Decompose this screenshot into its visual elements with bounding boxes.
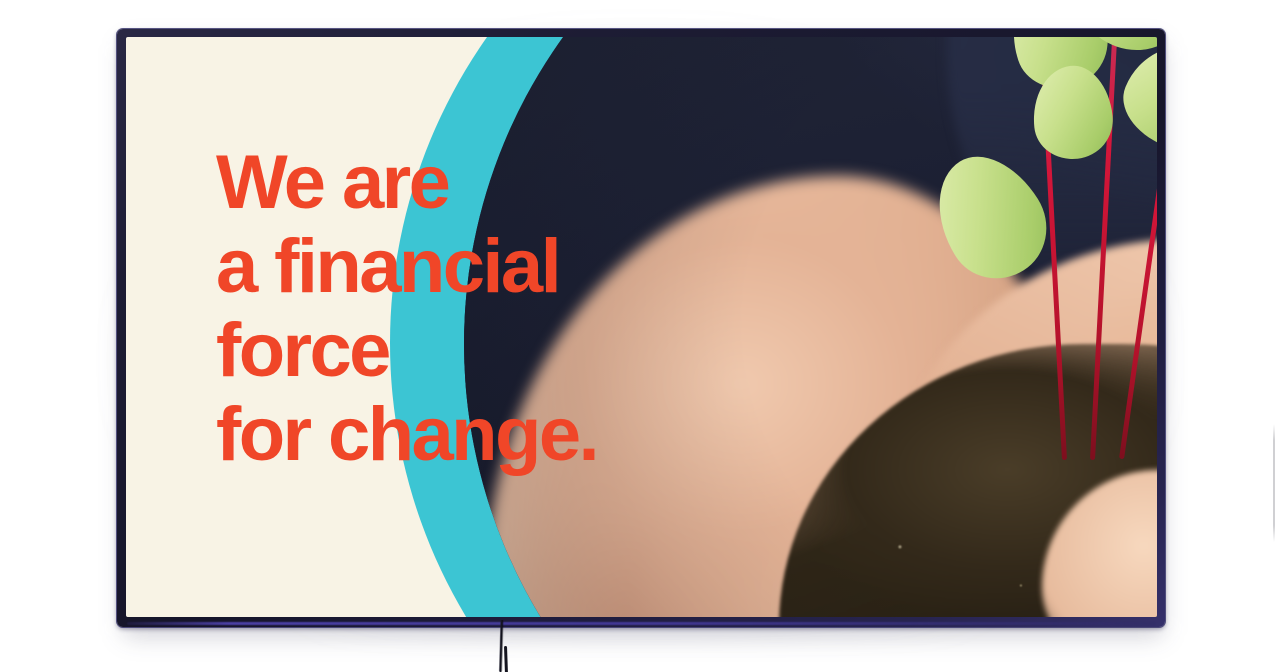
- offscreen-panel-edge: [1273, 424, 1275, 542]
- slide-headline: We are a financial force for change.: [216, 141, 836, 477]
- screenshot-stage: We are a financial force for change.: [0, 0, 1280, 672]
- television-set: We are a financial force for change.: [117, 29, 1165, 627]
- seedling-leaf: [1111, 37, 1157, 166]
- tv-bezel: We are a financial force for change.: [117, 29, 1165, 627]
- power-cable-lower: [504, 646, 508, 672]
- seedling-sprouts: [926, 37, 1157, 460]
- seedling-leaf: [915, 137, 1066, 296]
- tv-screen[interactable]: We are a financial force for change.: [126, 37, 1157, 617]
- bezel-highlight: [127, 622, 1155, 625]
